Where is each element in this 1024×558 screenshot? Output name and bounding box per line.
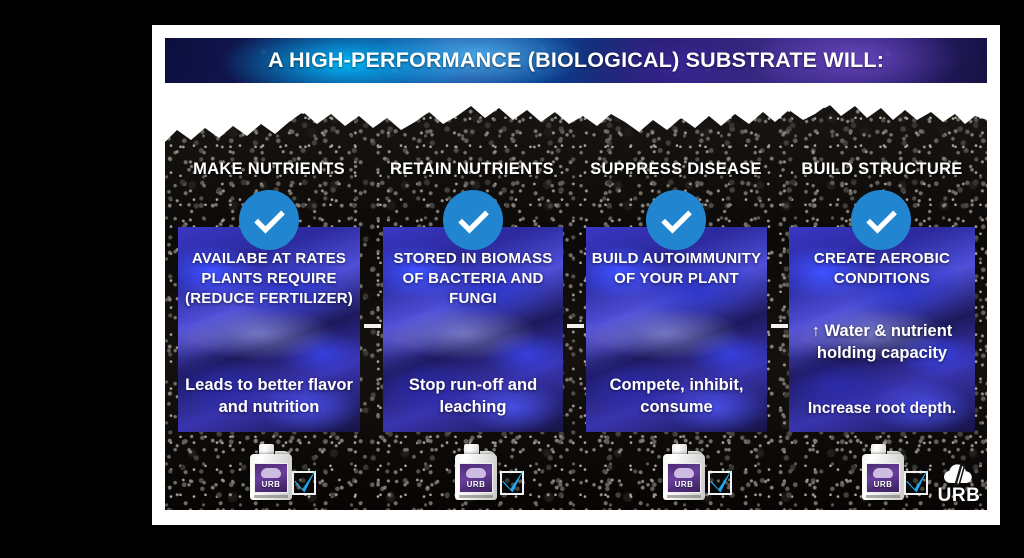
panel-outcome-text-4: Increase root depth. — [789, 399, 975, 420]
bottle-label: URB — [866, 463, 900, 493]
product-group-4: URB — [862, 444, 904, 500]
column-header-build-structure: BUILD STRUCTURE — [789, 160, 975, 179]
checkbox-checked-icon-4 — [904, 471, 928, 495]
panel-benefit-text-2: STORED IN BIOMASS OF BACTERIA AND FUNGI — [383, 249, 563, 308]
slide-title-bar: A HIGH-PERFORMANCE (BIOLOGICAL) SUBSTRAT… — [165, 38, 987, 83]
urb-bottle-icon-1: URB — [250, 444, 292, 500]
bottle-base-line — [667, 495, 701, 498]
checkbox-checked-icon-1 — [292, 471, 316, 495]
bottle-body: URB — [455, 454, 497, 500]
bottle-label: URB — [254, 463, 288, 493]
bottle-label-cloud-icon — [674, 468, 694, 478]
product-group-1: URB — [250, 444, 292, 500]
panel-separator-2 — [567, 324, 584, 328]
bottle-label-text: URB — [467, 480, 486, 489]
benefit-panel-build-structure: CREATE AEROBIC CONDITIONS ↑ Water & nutr… — [789, 227, 975, 432]
check-circle-icon-2 — [443, 190, 503, 250]
panel-separator-3 — [771, 324, 788, 328]
column-header-retain-nutrients: RETAIN NUTRIENTS — [381, 160, 563, 179]
urb-bottle-icon-2: URB — [455, 444, 497, 500]
benefit-panel-make-nutrients: AVAILABE AT RATES PLANTS REQUIRE (REDUCE… — [178, 227, 360, 432]
bottle-base-line — [866, 495, 900, 498]
bottle-label-text: URB — [675, 480, 694, 489]
product-group-3: URB — [663, 444, 705, 500]
check-circle-icon-1 — [239, 190, 299, 250]
column-header-make-nutrients: MAKE NUTRIENTS — [178, 160, 360, 179]
bottle-label-cloud-icon — [466, 468, 486, 478]
panel-benefit-text-1: AVAILABE AT RATES PLANTS REQUIRE (REDUCE… — [178, 249, 360, 308]
urb-brand-logo: URB — [928, 462, 990, 510]
urb-wordmark: URB — [928, 486, 990, 506]
bottle-label-text: URB — [262, 480, 281, 489]
bottle-label-cloud-icon — [261, 468, 281, 478]
check-circle-icon-4 — [851, 190, 911, 250]
urb-bottle-icon-4: URB — [862, 444, 904, 500]
cloud-slash-icon — [928, 462, 990, 486]
bottle-body: URB — [862, 454, 904, 500]
column-header-suppress-disease: SUPPRESS DISEASE — [584, 160, 768, 179]
bottle-label-cloud-icon — [873, 468, 893, 478]
bottle-label: URB — [667, 463, 701, 493]
benefit-panel-suppress-disease: BUILD AUTOIMMUNITY OF YOUR PLANT Compete… — [586, 227, 767, 432]
bottle-body: URB — [250, 454, 292, 500]
panel-benefit-text-3: BUILD AUTOIMMUNITY OF YOUR PLANT — [586, 249, 767, 289]
checkbox-checked-icon-2 — [500, 471, 524, 495]
soil-top-silhouette — [165, 90, 987, 162]
urb-bottle-icon-3: URB — [663, 444, 705, 500]
check-circle-icon-3 — [646, 190, 706, 250]
bottle-base-line — [459, 495, 493, 498]
benefit-panel-retain-nutrients: STORED IN BIOMASS OF BACTERIA AND FUNGI … — [383, 227, 563, 432]
panel-outcome-text-2: Stop run-off and leaching — [383, 374, 563, 418]
bottle-body: URB — [663, 454, 705, 500]
checkbox-checked-icon-3 — [708, 471, 732, 495]
panel-separator-1 — [364, 324, 381, 328]
slide-canvas: A HIGH-PERFORMANCE (BIOLOGICAL) SUBSTRAT… — [0, 0, 1024, 558]
panel-outcome-text-3: Compete, inhibit, consume — [586, 374, 767, 418]
panel-benefit-text-4: CREATE AEROBIC CONDITIONS — [789, 249, 975, 289]
product-group-2: URB — [455, 444, 497, 500]
bottle-label-text: URB — [874, 480, 893, 489]
bottle-label: URB — [459, 463, 493, 493]
panel-outcome-text-1: Leads to better flavor and nutrition — [178, 374, 360, 418]
bottle-base-line — [254, 495, 288, 498]
page-title: A HIGH-PERFORMANCE (BIOLOGICAL) SUBSTRAT… — [165, 38, 987, 83]
panel-outcome-top-text-4: ↑ Water & nutrient holding capacity — [789, 321, 975, 365]
